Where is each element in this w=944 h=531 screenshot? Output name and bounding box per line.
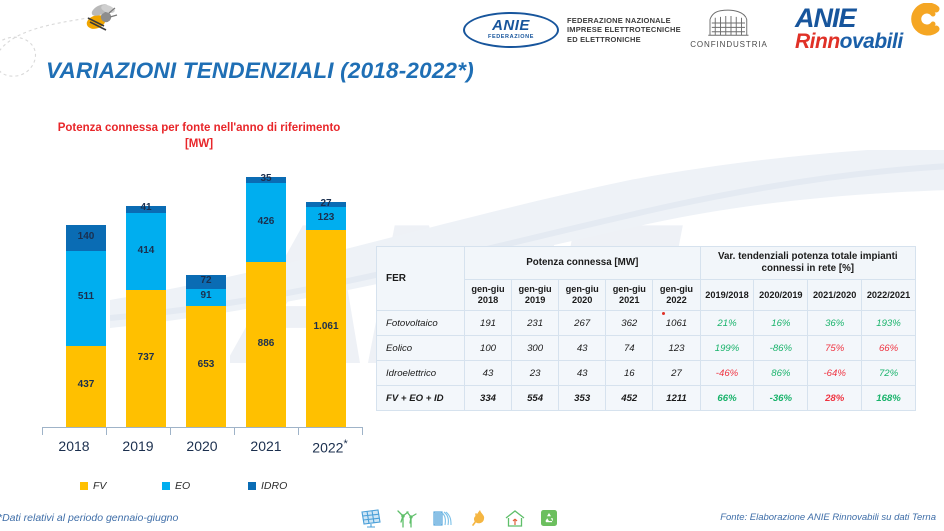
table-cell-power: 27 <box>653 361 700 386</box>
table-row: Eolico1003004374123199%-86%75%66% <box>377 336 916 361</box>
variations-table: FER Potenza connessa [MW] Var. tendenzia… <box>376 246 916 411</box>
bar-segment-fv: 737 <box>126 290 166 427</box>
bar-segment-eo: 426 <box>246 183 286 262</box>
table-sub-header: gen-giu2020 <box>559 280 606 311</box>
table-cell-variation: 16% <box>754 311 808 336</box>
table-cell-power: 43 <box>559 336 606 361</box>
table-cell-power: 100 <box>464 336 511 361</box>
table-cell-variation: 66% <box>862 336 916 361</box>
chart-plot-area: 14051143741414737729165335426886271231.0… <box>56 167 356 427</box>
table-cell-variation: -46% <box>700 361 754 386</box>
table-sub-header: gen-giu2019 <box>512 280 559 311</box>
table-row: Fotovoltaico191231267362106121%16%36%193… <box>377 311 916 336</box>
solar-panel-icon <box>360 508 382 528</box>
bar-value-label: 437 <box>66 379 106 390</box>
rinnovabili-word-b: ovabili <box>840 30 903 53</box>
legend-item-fv[interactable]: FV <box>80 480 106 492</box>
table-sub-header: gen-giu2022 <box>653 280 700 311</box>
bar-segment-eo: 91 <box>186 289 226 306</box>
bar-group: 41414737 <box>126 206 166 427</box>
bar-value-label: 140 <box>66 231 106 242</box>
bar-value-label: 72 <box>186 275 226 286</box>
table-row-label: Eolico <box>377 336 465 361</box>
bar-value-label: 737 <box>126 352 166 363</box>
chart-title: Potenza connessa per fonte nell'anno di … <box>54 120 344 152</box>
table-sub-header: gen-giu2018 <box>464 280 511 311</box>
page-title: VARIAZIONI TENDENZIALI (2018-2022*) <box>46 58 474 84</box>
bar-segment-fv: 1.061 <box>306 230 346 427</box>
header-logos: ANIE FEDERAZIONE FEDERAZIONE NAZIONALE I… <box>0 0 944 60</box>
bar-value-label: 123 <box>306 212 346 223</box>
table-cell-power: 74 <box>606 336 653 361</box>
table-cell-variation: -64% <box>808 361 862 386</box>
table-group-header-variation: Var. tendenziali potenza totale impianti… <box>700 247 915 280</box>
bar-segment-eo: 414 <box>126 213 166 290</box>
table-cell-variation: 86% <box>754 361 808 386</box>
table-cell-power: 23 <box>512 361 559 386</box>
bar-segment-fv: 653 <box>186 306 226 427</box>
biomass-flame-icon <box>468 508 490 528</box>
bar-value-label: 414 <box>126 245 166 256</box>
stacked-bar-chart: Potenza connessa per fonte nell'anno di … <box>26 112 371 472</box>
table-cell-power: 43 <box>559 361 606 386</box>
federazione-line-1: FEDERAZIONE NAZIONALE <box>567 16 681 26</box>
x-axis-label-asterisk: * <box>343 438 347 450</box>
table-row: FV + EO + ID334554353452121166%-36%28%16… <box>377 386 916 411</box>
red-marker-dot-icon <box>662 312 665 315</box>
x-axis-label: 2018 <box>42 438 106 454</box>
anie-rinnovabili-logo: ANIE Rinnovabili <box>795 5 940 55</box>
legend-label: IDRO <box>261 480 287 492</box>
axis-tick <box>106 427 107 435</box>
x-axis-label: 2019 <box>106 438 170 454</box>
table-row-label: Fotovoltaico <box>377 311 465 336</box>
rinnovabili-swirl-icon <box>902 3 942 37</box>
bar-segment-idro: 72 <box>186 275 226 288</box>
bar-segment-idro: 140 <box>66 225 106 251</box>
confindustria-label: CONFINDUSTRIA <box>690 40 768 49</box>
rinnovabili-word-a: Rinn <box>795 30 840 53</box>
bar-segment-fv: 886 <box>246 262 286 427</box>
x-axis-label: 2020 <box>170 438 234 454</box>
table-body: Fotovoltaico191231267362106121%16%36%193… <box>377 311 916 411</box>
bar-value-label: 1.061 <box>306 321 346 332</box>
axis-tick <box>298 427 299 435</box>
table-cell-variation: 199% <box>700 336 754 361</box>
hydro-dam-icon <box>432 508 454 528</box>
table-cell-variation: 28% <box>808 386 862 411</box>
federazione-text: FEDERAZIONE NAZIONALE IMPRESE ELETTROTEC… <box>567 16 681 45</box>
axis-tick <box>170 427 171 435</box>
table-sub-header: gen-giu2021 <box>606 280 653 311</box>
table-cell-power: 16 <box>606 361 653 386</box>
chart-legend: FVEOIDRO <box>80 480 330 496</box>
table-cell-power: 191 <box>464 311 511 336</box>
recycle-icon <box>540 509 558 527</box>
table-corner-header: FER <box>377 247 465 311</box>
table-cell-variation: 75% <box>808 336 862 361</box>
bar-group: 271231.061 <box>306 202 346 427</box>
anie-badge: ANIE FEDERAZIONE <box>463 12 559 48</box>
table-cell-variation: -36% <box>754 386 808 411</box>
table-head: FER Potenza connessa [MW] Var. tendenzia… <box>377 247 916 311</box>
table-cell-variation: 193% <box>862 311 916 336</box>
table-cell-power: 353 <box>559 386 606 411</box>
axis-tick <box>362 427 363 435</box>
legend-swatch <box>162 482 170 490</box>
table-cell-variation: 72% <box>862 361 916 386</box>
bar-group: 35426886 <box>246 177 286 427</box>
table-cell-power: 43 <box>464 361 511 386</box>
table-header-row-groups: FER Potenza connessa [MW] Var. tendenzia… <box>377 247 916 280</box>
legend-label: FV <box>93 480 106 492</box>
confindustria-mark-icon <box>703 9 756 37</box>
axis-tick <box>42 427 43 435</box>
x-axis-label: 2021 <box>234 438 298 454</box>
bar-value-label: 511 <box>66 291 106 302</box>
bar-segment-eo: 511 <box>66 251 106 346</box>
table-cell-power: 362 <box>606 311 653 336</box>
anie-federazione-logo: ANIE FEDERAZIONE FEDERAZIONE NAZIONALE I… <box>463 12 681 48</box>
legend-swatch <box>248 482 256 490</box>
table-cell-power: 452 <box>606 386 653 411</box>
table-sub-header: 2020/2019 <box>754 280 808 311</box>
bar-value-label: 653 <box>186 359 226 370</box>
wind-turbine-icon <box>396 508 418 528</box>
table-row-label: Idroelettrico <box>377 361 465 386</box>
bar-value-label: 41 <box>126 202 166 213</box>
federazione-line-2: IMPRESE ELETTROTECNICHE <box>567 25 681 35</box>
table-cell-power: 1211 <box>653 386 700 411</box>
bar-value-label: 91 <box>186 290 226 301</box>
table-cell-power: 123 <box>653 336 700 361</box>
source-text: Fonte: Elaborazione ANIE Rinnovabili su … <box>720 512 936 523</box>
table-row-label: FV + EO + ID <box>377 386 465 411</box>
table-cell-power: 334 <box>464 386 511 411</box>
federazione-line-3: ED ELETTRONICHE <box>567 35 681 45</box>
legend-swatch <box>80 482 88 490</box>
anie-badge-sub: FEDERAZIONE <box>488 34 534 40</box>
bar-group: 7291653 <box>186 275 226 427</box>
table-cell-variation: -86% <box>754 336 808 361</box>
table-cell-variation: 21% <box>700 311 754 336</box>
energy-source-icon-row <box>360 505 560 531</box>
bar-group: 140511437 <box>66 225 106 427</box>
bar-value-label: 886 <box>246 338 286 349</box>
legend-item-idro[interactable]: IDRO <box>248 480 287 492</box>
table-cell-variation: 168% <box>862 386 916 411</box>
table-cell-variation: 36% <box>808 311 862 336</box>
table-cell-power: 1061 <box>653 311 700 336</box>
table-sub-header: 2021/2020 <box>808 280 862 311</box>
bar-value-label: 426 <box>246 216 286 227</box>
confindustria-logo: CONFINDUSTRIA <box>690 9 768 49</box>
legend-label: EO <box>175 480 190 492</box>
table-cell-power: 554 <box>512 386 559 411</box>
table-group-header-power: Potenza connessa [MW] <box>464 247 700 280</box>
table-cell-power: 231 <box>512 311 559 336</box>
chart-x-tick-labels: 20182019202020212022* <box>42 438 362 462</box>
bar-segment-idro: 41 <box>126 206 166 214</box>
geothermal-house-icon <box>504 508 526 528</box>
table-cell-power: 300 <box>512 336 559 361</box>
table-row: Idroelettrico4323431627-46%86%-64%72% <box>377 361 916 386</box>
table-cell-variation: 66% <box>700 386 754 411</box>
x-axis-label: 2022* <box>298 438 362 456</box>
table-sub-header: 2022/2021 <box>862 280 916 311</box>
chart-x-ticks <box>42 427 362 435</box>
table-sub-header: 2019/2018 <box>700 280 754 311</box>
anie-badge-name: ANIE <box>492 20 530 32</box>
bar-segment-fv: 437 <box>66 346 106 427</box>
footnote-text: *Dati relativi al periodo gennaio-giugno <box>0 512 178 524</box>
legend-item-eo[interactable]: EO <box>162 480 190 492</box>
table-cell-power: 267 <box>559 311 606 336</box>
bar-segment-eo: 123 <box>306 207 346 230</box>
axis-tick <box>234 427 235 435</box>
